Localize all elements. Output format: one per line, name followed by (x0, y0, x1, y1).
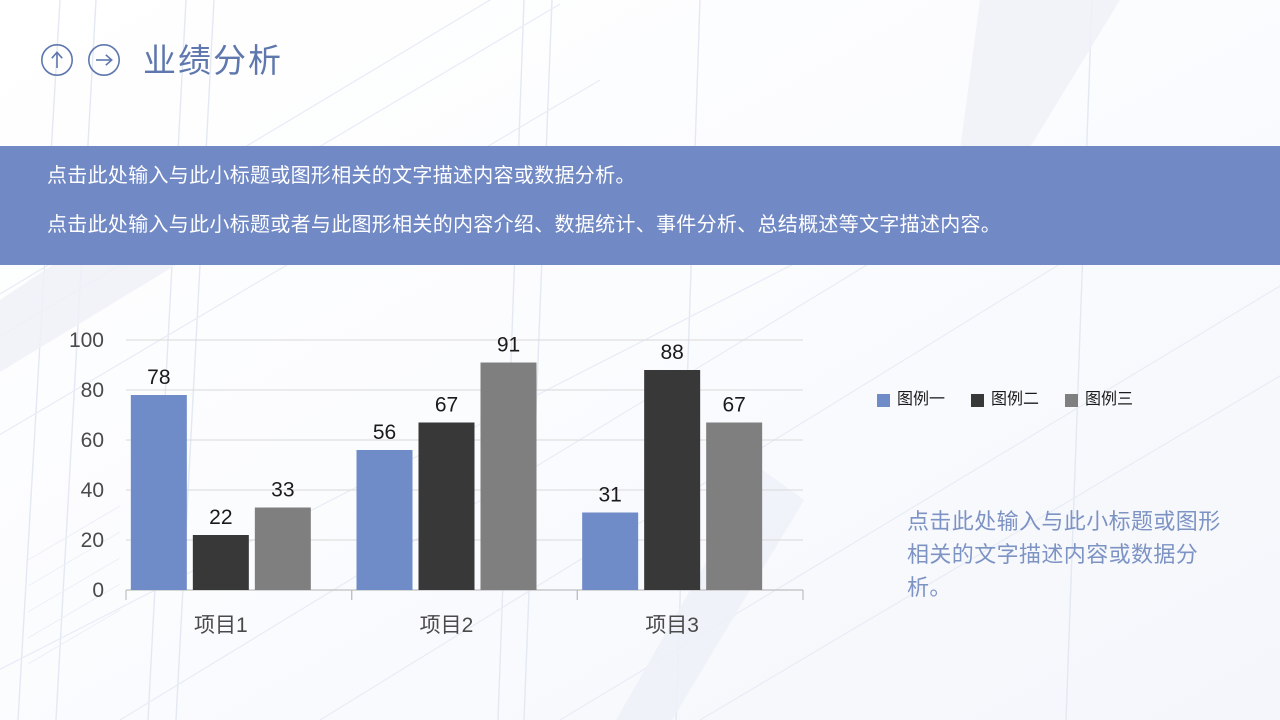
legend-swatch-icon (1065, 394, 1078, 407)
legend-label: 图例二 (991, 392, 1039, 408)
bar[interactable] (357, 450, 413, 590)
bar-value-label: 56 (373, 421, 396, 444)
x-axis-category-label: 项目2 (420, 614, 474, 637)
y-axis-tick-label: 80 (81, 379, 104, 402)
side-note-text: 点击此处输入与此小标题或图形相关的文字描述内容或数据分析。 (907, 505, 1237, 604)
banner-text-line-2: 点击此处输入与此小标题或者与此图形相关的内容介绍、数据统计、事件分析、总结概述等… (47, 215, 1280, 235)
arrow-right-circle-icon (87, 43, 121, 77)
bar-chart: 020406080100782233项目1566791项目2318867项目3 (0, 300, 860, 650)
legend-item[interactable]: 图例一 (877, 392, 945, 408)
y-axis-tick-label: 20 (81, 529, 104, 552)
banner-text-line-1: 点击此处输入与此小标题或图形相关的文字描述内容或数据分析。 (47, 166, 1280, 186)
bar-value-label: 31 (598, 484, 621, 507)
bar-value-label: 33 (271, 479, 294, 502)
legend-label: 图例三 (1085, 392, 1133, 408)
bar-value-label: 91 (497, 334, 520, 357)
bar[interactable] (193, 535, 249, 590)
bar-value-label: 67 (435, 394, 458, 417)
bar[interactable] (706, 423, 762, 591)
arrow-up-circle-icon (40, 43, 74, 77)
y-axis-tick-label: 40 (81, 479, 104, 502)
legend-item[interactable]: 图例三 (1065, 392, 1133, 408)
bar[interactable] (481, 363, 537, 591)
chart-legend: 图例一图例二图例三 (877, 392, 1133, 408)
legend-item[interactable]: 图例二 (971, 392, 1039, 408)
bar-value-label: 22 (209, 506, 232, 529)
bar[interactable] (131, 395, 187, 590)
slide: 业绩分析 点击此处输入与此小标题或图形相关的文字描述内容或数据分析。 点击此处输… (0, 0, 1280, 720)
bar[interactable] (255, 508, 311, 591)
y-axis-tick-label: 100 (69, 329, 104, 352)
x-axis-category-label: 项目3 (645, 614, 699, 637)
y-axis-tick-label: 60 (81, 429, 104, 452)
bar[interactable] (582, 513, 638, 591)
legend-swatch-icon (971, 394, 984, 407)
page-title: 业绩分析 (143, 44, 283, 77)
bar-chart-svg: 020406080100782233项目1566791项目2318867项目3 (0, 300, 860, 650)
y-axis-tick-label: 0 (92, 579, 104, 602)
legend-label: 图例一 (897, 392, 945, 408)
bar-value-label: 88 (660, 341, 683, 364)
header: 业绩分析 (40, 34, 283, 86)
legend-swatch-icon (877, 394, 890, 407)
bar[interactable] (419, 423, 475, 591)
bar-value-label: 78 (147, 366, 170, 389)
bar[interactable] (644, 370, 700, 590)
description-banner: 点击此处输入与此小标题或图形相关的文字描述内容或数据分析。 点击此处输入与此小标… (0, 146, 1280, 265)
x-axis-category-label: 项目1 (194, 614, 248, 637)
bar-value-label: 67 (722, 394, 745, 417)
